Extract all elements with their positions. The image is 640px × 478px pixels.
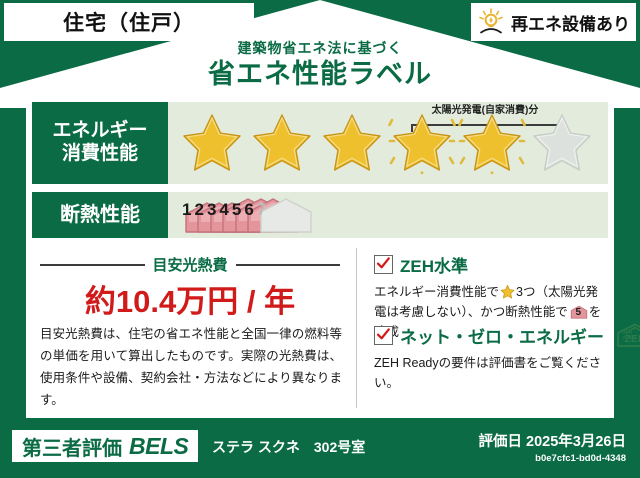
- insulation-level-3: 3: [207, 195, 216, 215]
- insulation-level-4-number: 4: [219, 200, 228, 220]
- insulation-level-5-number: 5: [232, 200, 241, 220]
- energy-performance-row: エネルギー 消費性能 太陽光発電(自家消費)分: [32, 102, 608, 184]
- property-name: ステラ スクネ 302号室: [212, 437, 365, 457]
- zeh-netzero-title: ネット・ゼロ・エネルギー: [400, 323, 604, 348]
- svg-text:ZEH: ZEH: [625, 333, 640, 345]
- title-subtitle: 建築物省エネ法に基づく: [0, 40, 640, 57]
- insulation-level-1-number: 1: [182, 200, 191, 220]
- label-body-card: エネルギー 消費性能 太陽光発電(自家消費)分: [26, 96, 614, 418]
- energy-performance-label: エネルギー 消費性能: [32, 102, 168, 184]
- insulation-levels-panel: 1 2 3: [168, 192, 608, 238]
- insulation-badge-icon: 5: [570, 304, 587, 319]
- bels-badge-en: BELS: [129, 433, 188, 460]
- star-2-filled: [248, 108, 316, 174]
- star-1-filled: [178, 108, 246, 174]
- cost-rule-left: [40, 264, 145, 266]
- star-4-filled-solar: [388, 108, 456, 174]
- footer-bar: 第三者評価 BELS ステラ スクネ 302号室 評価日 2025年3月26日 …: [0, 424, 640, 478]
- star-6-empty: [528, 108, 596, 174]
- zeh-standard-checkbox[interactable]: [374, 255, 393, 274]
- insulation-level-7-number: 7: [257, 200, 266, 220]
- zeh-netzero-block: ネット・ゼロ・エネルギー ZEH ZEH Ready ZEH Readyの要件は…: [374, 322, 610, 393]
- renewable-equipment-label: 再エネ設備あり: [511, 10, 630, 35]
- sun-lightbulb-icon: [477, 8, 505, 36]
- zeh-netzero-heading: ネット・ゼロ・エネルギー ZEH ZEH Ready: [374, 322, 610, 348]
- evaluation-info: 評価日 2025年3月26日 b0e7cfc1-bd0d-4348: [479, 430, 626, 464]
- star-rating: [178, 108, 596, 174]
- energy-label-root: 建築物省エネ法に基づく 省エネ性能ラベル 住宅（住戸） 再エネ設備あり: [0, 0, 640, 478]
- insulation-level-6: 6: [244, 195, 253, 215]
- energy-label-line1: エネルギー: [52, 120, 147, 141]
- building-type-label: 住宅（住戸）: [63, 7, 195, 37]
- insulation-level-4: 4: [219, 195, 228, 215]
- bels-badge: 第三者評価 BELS: [12, 430, 198, 462]
- evaluation-id: b0e7cfc1-bd0d-4348: [479, 453, 626, 464]
- star-5-filled-solar: [458, 108, 526, 174]
- insulation-level-3-number: 3: [207, 200, 216, 220]
- insulation-level-5: 5: [232, 195, 241, 215]
- star-3-filled: [318, 108, 386, 174]
- cost-note: 目安光熱費は、住宅の省エネ性能と全国一律の燃料等の単価を用いて算出したものです。…: [40, 324, 342, 412]
- cost-rule-right: [236, 264, 341, 266]
- zeh-netzero-checkbox[interactable]: [374, 326, 393, 345]
- energy-label-line2: 消費性能: [62, 143, 138, 164]
- insulation-badge-number: 5: [570, 305, 587, 321]
- evaluation-date: 評価日 2025年3月26日: [479, 430, 626, 451]
- building-type-tag: 住宅（住戸）: [4, 3, 254, 41]
- zeh-standard-heading: ZEH水準: [374, 252, 610, 277]
- cost-heading: 目安光熱費: [153, 254, 228, 275]
- zeh-standard-title: ZEH水準: [400, 252, 468, 277]
- insulation-level-scale: 1 2 3: [182, 195, 266, 215]
- zeh-standard-body-part1: エネルギー消費性能で: [374, 285, 499, 299]
- page-title: 省エネ性能ラベル: [0, 58, 640, 92]
- bels-badge-jp: 第三者評価: [22, 432, 122, 461]
- insulation-level-6-number: 6: [244, 200, 253, 220]
- title-block: 建築物省エネ法に基づく 省エネ性能ラベル: [0, 40, 640, 92]
- insulation-performance-row: 断熱性能 1 2: [32, 192, 608, 238]
- renewable-equipment-tag: 再エネ設備あり: [471, 3, 636, 41]
- insulation-level-2: 2: [194, 195, 203, 215]
- insulation-performance-label: 断熱性能: [32, 192, 168, 238]
- cost-heading-row: 目安光熱費: [40, 254, 340, 275]
- star-icon: [500, 284, 515, 299]
- estimated-cost-value: 約10.4万円 / 年: [40, 276, 340, 321]
- zeh-netzero-body: ZEH Readyの要件は評価書をご覧ください。: [374, 353, 610, 393]
- column-divider: [356, 248, 357, 408]
- insulation-level-7: 7: [257, 195, 266, 215]
- energy-stars-panel: 太陽光発電(自家消費)分: [168, 102, 608, 184]
- insulation-level-2-number: 2: [194, 200, 203, 220]
- insulation-level-1: 1: [182, 195, 191, 215]
